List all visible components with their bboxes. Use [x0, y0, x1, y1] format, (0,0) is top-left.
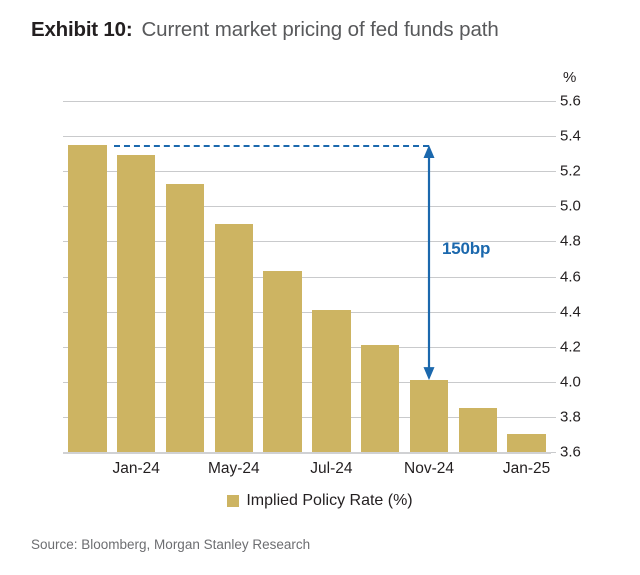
y-axis-label: 4.2 — [560, 338, 581, 355]
y-axis-label: 5.6 — [560, 93, 581, 110]
bar-implied-policy-rate — [263, 271, 302, 452]
bar-implied-policy-rate — [215, 224, 254, 452]
bar-implied-policy-rate — [312, 310, 351, 452]
y-axis-label: 3.6 — [560, 444, 581, 461]
x-axis-label: Jan-25 — [503, 460, 550, 478]
chart-plot-area: % Jan-24May-24Jul-24Nov-24Jan-25 150bp 5… — [0, 0, 640, 575]
y-axis-label: 5.4 — [560, 128, 581, 145]
bars-group — [63, 101, 551, 452]
x-axis-label: Jul-24 — [310, 460, 352, 478]
source-note: Source: Bloomberg, Morgan Stanley Resear… — [31, 537, 310, 552]
y-axis-tick — [551, 382, 556, 383]
y-axis-tick — [551, 417, 556, 418]
y-axis-tick — [551, 452, 556, 453]
y-axis-unit-label: % — [563, 69, 576, 86]
y-axis-label: 4.0 — [560, 373, 581, 390]
x-axis-label: May-24 — [208, 460, 260, 478]
y-axis-label: 4.8 — [560, 233, 581, 250]
y-axis-label: 5.0 — [560, 198, 581, 215]
y-axis-tick — [551, 312, 556, 313]
annotation-label-150bp: 150bp — [442, 239, 490, 259]
y-axis-label: 3.8 — [560, 408, 581, 425]
bar-implied-policy-rate — [459, 408, 498, 452]
y-axis-tick — [551, 241, 556, 242]
legend-swatch-implied-policy-rate — [227, 495, 239, 507]
y-axis-label: 4.6 — [560, 268, 581, 285]
y-axis-tick — [551, 101, 556, 102]
y-axis-tick — [551, 206, 556, 207]
y-axis-tick — [551, 171, 556, 172]
bar-implied-policy-rate — [410, 380, 449, 452]
y-axis-label: 4.4 — [560, 303, 581, 320]
x-axis-label: Jan-24 — [112, 460, 159, 478]
bar-implied-policy-rate — [507, 434, 546, 452]
bar-implied-policy-rate — [117, 155, 156, 452]
chart-legend: Implied Policy Rate (%) — [0, 492, 640, 510]
x-axis-baseline — [63, 452, 551, 454]
measurement-arrow-icon — [414, 145, 444, 384]
legend-label-implied-policy-rate: Implied Policy Rate (%) — [246, 492, 412, 510]
exhibit-chart-root: Exhibit 10:Current market pricing of fed… — [0, 0, 640, 575]
y-axis-label: 5.2 — [560, 163, 581, 180]
reference-dashed-line — [114, 145, 429, 147]
bar-implied-policy-rate — [166, 184, 205, 453]
y-axis-tick — [551, 277, 556, 278]
y-axis-tick — [551, 347, 556, 348]
bar-implied-policy-rate — [361, 345, 400, 452]
y-axis-tick — [551, 136, 556, 137]
x-axis-label: Nov-24 — [404, 460, 454, 478]
bar-implied-policy-rate — [68, 145, 107, 452]
